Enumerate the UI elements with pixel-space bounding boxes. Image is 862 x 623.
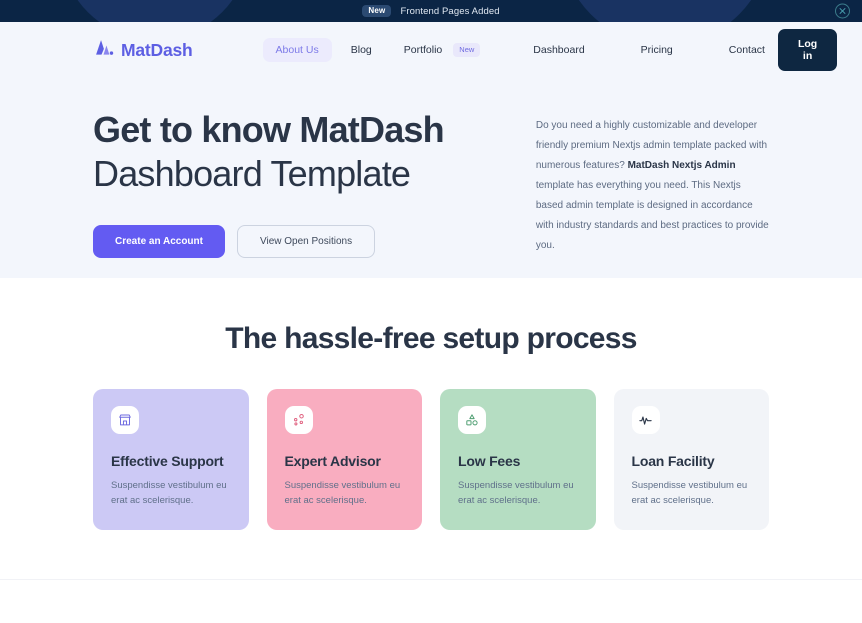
login-button[interactable]: Log in	[778, 29, 837, 71]
brand-name: MatDash	[121, 40, 193, 61]
section-divider	[0, 579, 862, 580]
feature-card-loan-facility[interactable]: Loan Facility Suspendisse vestibulum eu …	[614, 389, 770, 530]
announcement-text: Frontend Pages Added	[400, 6, 499, 17]
feature-card-desc: Suspendisse vestibulum eu erat ac sceler…	[285, 478, 405, 508]
main-navbar: MatDash About Us Blog Portfolio New Dash…	[0, 22, 862, 78]
feature-card-title: Low Fees	[458, 453, 578, 469]
nav-badge-new[interactable]: New	[453, 43, 480, 57]
storefront-icon	[111, 406, 139, 434]
feature-cards: Effective Support Suspendisse vestibulum…	[0, 389, 862, 530]
feature-card-desc: Suspendisse vestibulum eu erat ac sceler…	[111, 478, 231, 508]
announcement-banner: New Frontend Pages Added	[0, 0, 862, 22]
banner-decoration-blob-right	[560, 0, 770, 22]
nav-link-blog[interactable]: Blog	[338, 38, 385, 62]
nav-link-contact[interactable]: Contact	[716, 38, 778, 62]
hero-left-column: Get to know MatDash Dashboard Template C…	[93, 110, 444, 258]
feature-card-title: Expert Advisor	[285, 453, 405, 469]
matdash-logo-icon	[93, 38, 114, 62]
hero-title-line1: Get to know MatDash	[93, 110, 444, 150]
nav-link-portfolio[interactable]: Portfolio	[391, 38, 456, 62]
hero-section: MatDash About Us Blog Portfolio New Dash…	[0, 22, 862, 278]
hero-paragraph: Do you need a highly customizable and de…	[536, 116, 769, 256]
nav-link-about-us[interactable]: About Us	[263, 38, 332, 62]
close-circle-icon[interactable]	[835, 4, 850, 19]
nav-link-pricing[interactable]: Pricing	[628, 38, 686, 62]
shapes-icon	[458, 406, 486, 434]
banner-decoration-blob-left	[60, 0, 250, 22]
brand-logo[interactable]: MatDash	[93, 38, 193, 62]
feature-card-desc: Suspendisse vestibulum eu erat ac sceler…	[632, 478, 752, 508]
hero-paragraph-bold: MatDash Nextjs Admin	[628, 160, 736, 171]
feature-card-effective-support[interactable]: Effective Support Suspendisse vestibulum…	[93, 389, 249, 530]
create-account-button[interactable]: Create an Account	[93, 225, 225, 258]
features-section: The hassle-free setup process Effective …	[0, 278, 862, 580]
feature-card-desc: Suspendisse vestibulum eu erat ac sceler…	[458, 478, 578, 508]
features-title: The hassle-free setup process	[0, 322, 862, 356]
feature-card-title: Effective Support	[111, 453, 231, 469]
hero-title-line2: Dashboard Template	[93, 152, 444, 195]
activity-pulse-icon	[632, 406, 660, 434]
hero-body: Get to know MatDash Dashboard Template C…	[0, 78, 862, 258]
feature-card-title: Loan Facility	[632, 453, 752, 469]
hero-actions: Create an Account View Open Positions	[93, 225, 444, 258]
hero-right-column: Do you need a highly customizable and de…	[536, 110, 769, 256]
feature-card-low-fees[interactable]: Low Fees Suspendisse vestibulum eu erat …	[440, 389, 596, 530]
hero-paragraph-part2: template has everything you need. This N…	[536, 180, 769, 251]
view-open-positions-button[interactable]: View Open Positions	[237, 225, 375, 258]
nav-link-dashboard[interactable]: Dashboard	[520, 38, 597, 62]
network-nodes-icon	[285, 406, 313, 434]
announcement-content: New Frontend Pages Added	[362, 5, 499, 17]
announcement-badge: New	[362, 5, 391, 17]
feature-card-expert-advisor[interactable]: Expert Advisor Suspendisse vestibulum eu…	[267, 389, 423, 530]
nav-links: About Us Blog Portfolio New Dashboard Pr…	[263, 38, 778, 62]
